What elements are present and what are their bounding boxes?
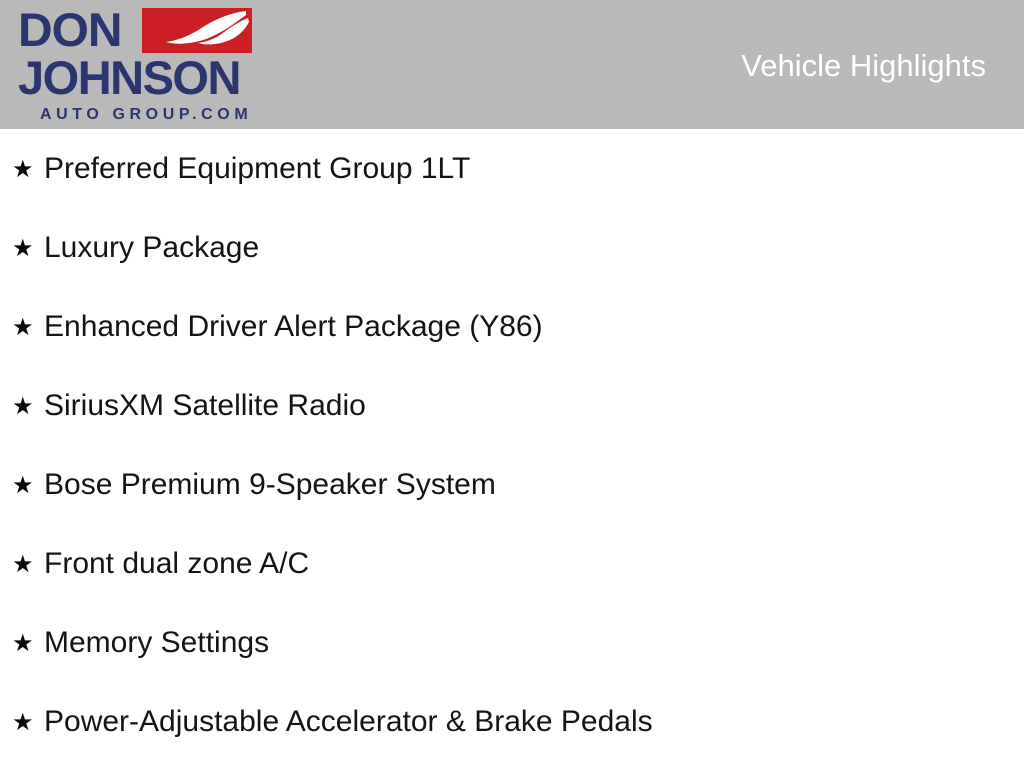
vehicle-highlights-list: ★ Preferred Equipment Group 1LT ★ Luxury… [0,129,1024,761]
star-icon: ★ [12,631,34,655]
page-title: Vehicle Highlights [741,48,986,84]
star-icon: ★ [12,236,34,260]
vehicle-highlights-page: DON JOHNSON AUTO GROUP.COM Vehicle Highl… [0,0,1024,768]
logo-text-don: DON [18,6,121,53]
logo-text-tagline: AUTO GROUP.COM [40,107,252,123]
star-icon: ★ [12,394,34,418]
logo-text-johnson: JOHNSON [18,54,240,101]
star-icon: ★ [12,552,34,576]
logo-swoosh-badge [142,8,252,53]
star-icon: ★ [12,315,34,339]
swoosh-icon [142,8,252,53]
list-item-label: Luxury Package [44,231,259,265]
list-item: ★ SiriusXM Satellite Radio [0,366,1024,445]
star-icon: ★ [12,157,34,181]
list-item-label: Memory Settings [44,626,269,660]
list-item: ★ Enhanced Driver Alert Package (Y86) [0,287,1024,366]
list-item-label: Power-Adjustable Accelerator & Brake Ped… [44,705,653,739]
dealer-logo[interactable]: DON JOHNSON AUTO GROUP.COM [12,4,258,126]
list-item-label: Bose Premium 9-Speaker System [44,468,496,502]
list-item-label: SiriusXM Satellite Radio [44,389,366,423]
list-item-label: Preferred Equipment Group 1LT [44,152,470,186]
list-item: ★ Front dual zone A/C [0,524,1024,603]
list-item-label: Enhanced Driver Alert Package (Y86) [44,310,543,344]
star-icon: ★ [12,473,34,497]
list-item-label: Front dual zone A/C [44,547,309,581]
list-item: ★ Power-Adjustable Accelerator & Brake P… [0,682,1024,761]
list-item: ★ Preferred Equipment Group 1LT [0,129,1024,208]
star-icon: ★ [12,710,34,734]
list-item: ★ Memory Settings [0,603,1024,682]
list-item: ★ Bose Premium 9-Speaker System [0,445,1024,524]
list-item: ★ Luxury Package [0,208,1024,287]
